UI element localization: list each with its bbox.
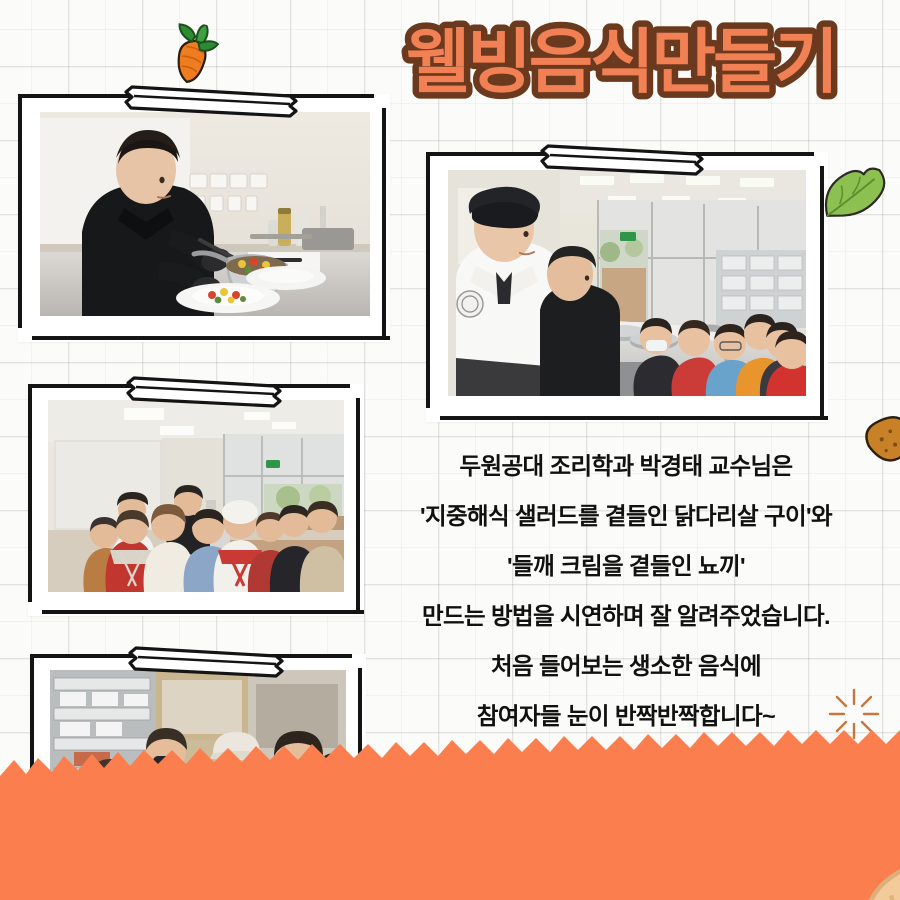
body-copy: 두원공대 조리학과 박경태 교수님은 '지중해식 샐러드를 곁들인 닭다리살 구…	[352, 444, 900, 744]
body-line-2: '지중해식 샐러드를 곁들인 닭다리살 구이'와	[352, 494, 900, 538]
body-line-4: 만드는 방법을 시연하며 잘 알려주었습니다.	[352, 594, 900, 638]
photo-image-chef-plating	[40, 112, 370, 316]
leaf-icon	[814, 155, 892, 226]
body-line-5: 처음 들어보는 생소한 음식에	[352, 644, 900, 688]
washi-tape	[124, 370, 284, 410]
photo-card-classroom-group[interactable]	[28, 384, 364, 616]
body-line-3: '들깨 크림을 곁들인 뇨끼'	[352, 544, 900, 588]
poster-canvas: 웰빙음식만들기 웰빙음식만들기	[0, 0, 900, 900]
photo-card-chef-plating[interactable]	[18, 94, 390, 342]
photo-image-chef-demo-audience	[448, 170, 806, 396]
page-title: 웰빙음식만들기 웰빙음식만들기	[398, 16, 888, 104]
washi-tape	[538, 138, 706, 178]
washi-tape	[126, 640, 286, 680]
photo-image-classroom-group	[48, 400, 344, 592]
torn-orange-footer	[0, 730, 900, 900]
onion-icon	[474, 824, 530, 886]
photo-card-chef-demo-audience[interactable]	[426, 152, 828, 422]
sparkle-icon	[756, 48, 790, 82]
body-line-1: 두원공대 조리학과 박경태 교수님은	[352, 444, 900, 488]
